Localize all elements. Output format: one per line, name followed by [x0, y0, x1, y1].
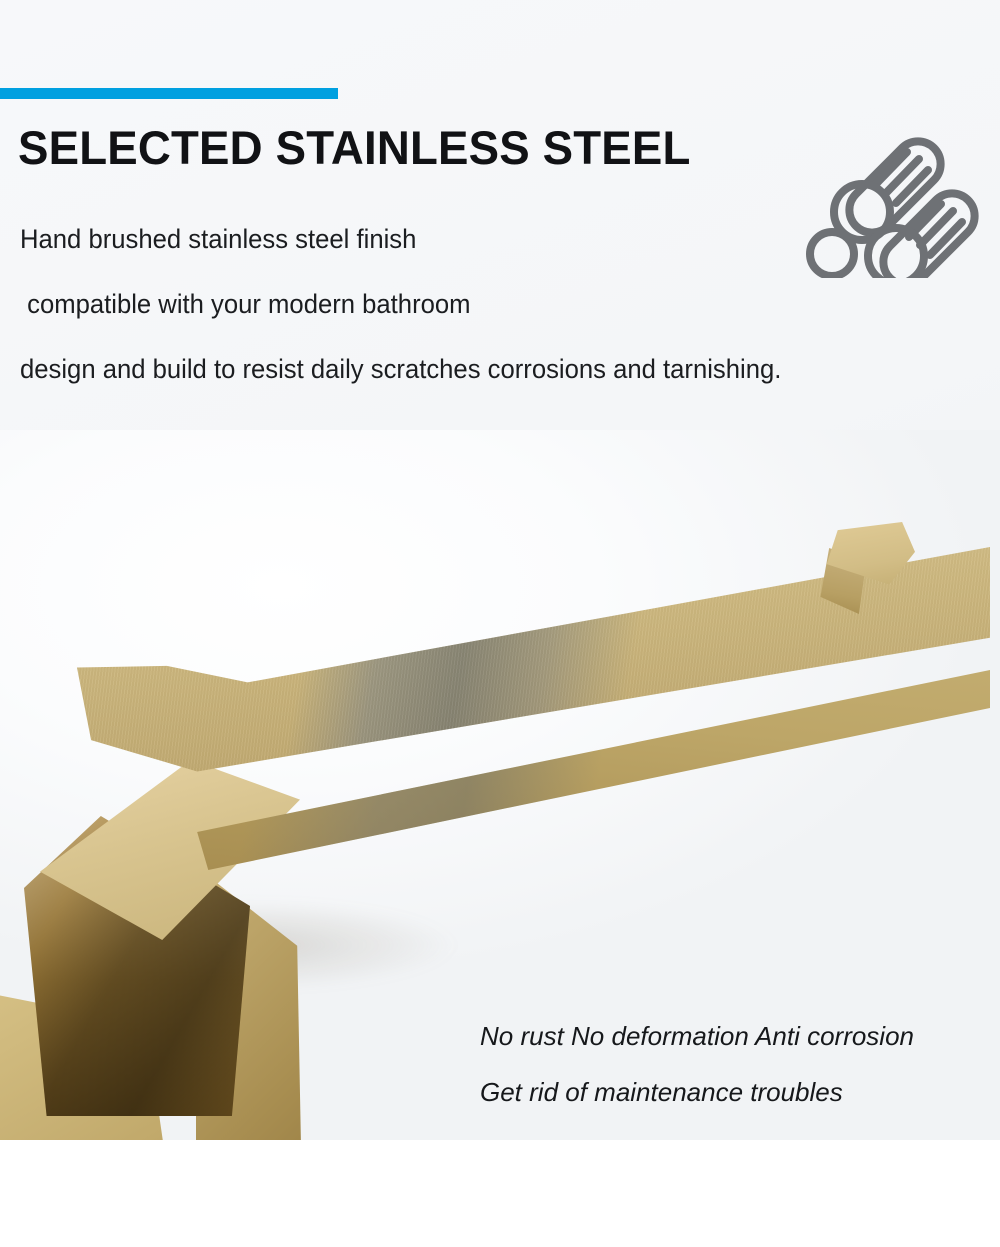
bottom-white-band [0, 1140, 1000, 1247]
stacked-steel-tubes-icon [806, 128, 982, 278]
benefit-line-1: No rust No deformation Anti corrosion [480, 1021, 980, 1051]
description-line-1: Hand brushed stainless steel finish [20, 222, 875, 256]
description-line-2: compatible with your modern bathroom [20, 287, 875, 321]
page-title: SELECTED STAINLESS STEEL [18, 123, 691, 172]
description-block: Hand brushed stainless steel finish comp… [20, 222, 920, 386]
benefits-block: No rust No deformation Anti corrosion Ge… [480, 1021, 980, 1107]
blue-accent-bar [0, 88, 338, 99]
content-panel: SELECTED STAINLESS STEEL Hand brushed st… [0, 0, 1000, 1140]
benefit-line-2: Get rid of maintenance troubles [480, 1077, 980, 1107]
product-feature-page: SELECTED STAINLESS STEEL Hand brushed st… [0, 0, 1000, 1247]
description-line-3: design and build to resist daily scratch… [20, 352, 875, 386]
